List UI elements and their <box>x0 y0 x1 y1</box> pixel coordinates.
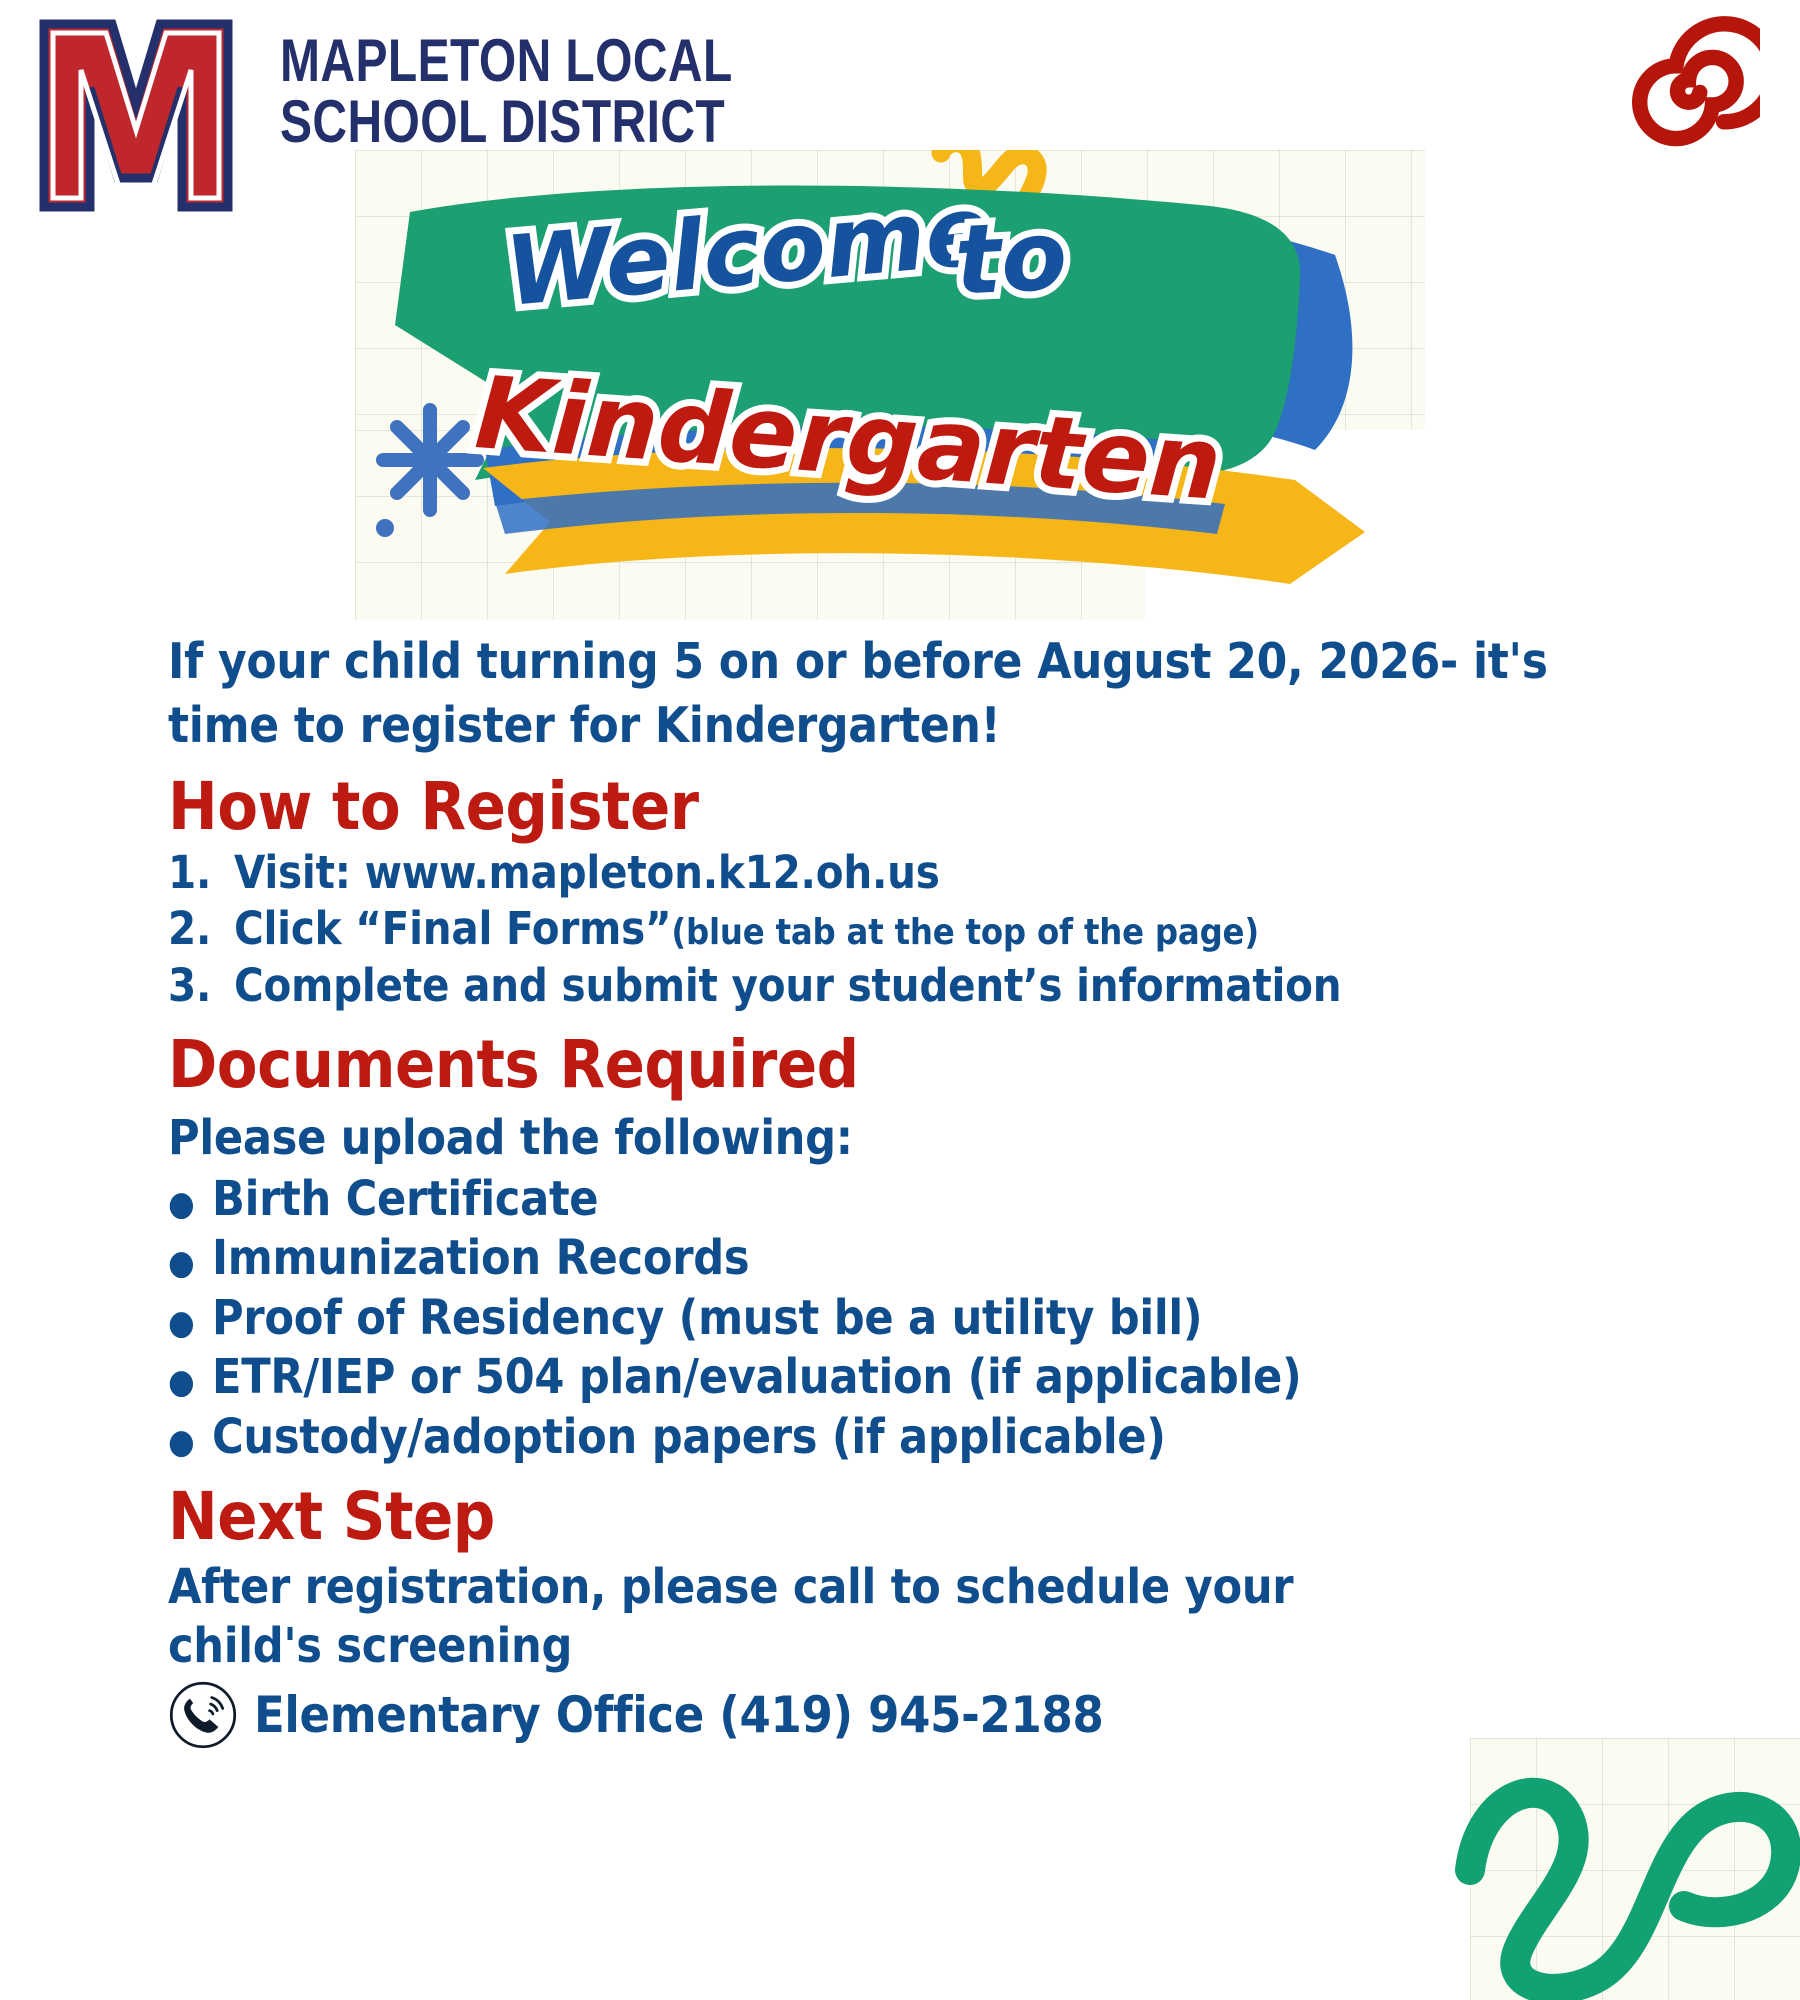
step-number: 2. <box>168 901 234 958</box>
document-label: ETR/IEP or 504 plan/evaluation (if appli… <box>212 1348 1301 1408</box>
document-label: Proof of Residency (must be a utility bi… <box>212 1289 1202 1349</box>
bullet-icon: ● <box>168 1246 212 1280</box>
documents-required-heading: Documents Required <box>168 1029 1800 1100</box>
step-text: Click “Final Forms” <box>234 901 671 958</box>
next-step-body: After registration, please call to sched… <box>168 1558 1368 1675</box>
step-number: 3. <box>168 958 234 1015</box>
documents-subheading: Please upload the following: <box>168 1110 1800 1168</box>
list-item: 1. Visit: www.mapleton.k12.oh.us <box>168 845 1800 902</box>
documents-list: ● Birth Certificate ● Immunization Recor… <box>168 1170 1800 1468</box>
list-item: ● Immunization Records <box>168 1229 1800 1289</box>
phone-icon <box>168 1680 238 1750</box>
list-item: ● Birth Certificate <box>168 1170 1800 1230</box>
banner-ribbons <box>355 150 1425 620</box>
intro-text: If your child turning 5 on or before Aug… <box>168 630 1568 757</box>
step-note: (blue tab at the top of the page) <box>671 910 1259 955</box>
page-header: MAPLETON LOCAL SCHOOL DISTRICT <box>0 0 1800 220</box>
contact-line: Elementary Office (419) 945-2188 <box>168 1680 1800 1750</box>
district-name: MAPLETON LOCAL SCHOOL DISTRICT <box>280 30 733 152</box>
document-label: Custody/adoption papers (if applicable) <box>212 1408 1166 1468</box>
step-text: Visit: www.mapleton.k12.oh.us <box>234 845 940 902</box>
mapleton-m-logo-icon <box>36 18 236 213</box>
registration-steps-list: 1. Visit: www.mapleton.k12.oh.us 2. Clic… <box>168 845 1800 1015</box>
flyer-content: If your child turning 5 on or before Aug… <box>0 630 1800 1750</box>
list-item: ● ETR/IEP or 504 plan/evaluation (if app… <box>168 1348 1800 1408</box>
list-item: 2. Click “Final Forms” (blue tab at the … <box>168 901 1800 958</box>
welcome-banner: Welcome to Kindergarten <box>355 150 1425 620</box>
bullet-icon: ● <box>168 1365 212 1399</box>
step-text: Complete and submit your student’s infor… <box>234 958 1341 1015</box>
sparkle-star-icon <box>383 410 477 510</box>
step-number: 1. <box>168 845 234 902</box>
next-step-heading: Next Step <box>168 1481 1800 1552</box>
spiral-logo-icon <box>1620 14 1760 154</box>
bullet-icon: ● <box>168 1306 212 1340</box>
list-item: ● Custody/adoption papers (if applicable… <box>168 1408 1800 1468</box>
document-label: Birth Certificate <box>212 1170 598 1230</box>
list-item: 3. Complete and submit your student’s in… <box>168 958 1800 1015</box>
document-label: Immunization Records <box>212 1229 749 1289</box>
how-to-register-heading: How to Register <box>168 771 1800 842</box>
sparkle-dot-icon <box>376 519 394 537</box>
contact-label: Elementary Office (419) 945-2188 <box>254 1686 1104 1744</box>
bullet-icon: ● <box>168 1425 212 1459</box>
bullet-icon: ● <box>168 1187 212 1221</box>
list-item: ● Proof of Residency (must be a utility … <box>168 1289 1800 1349</box>
